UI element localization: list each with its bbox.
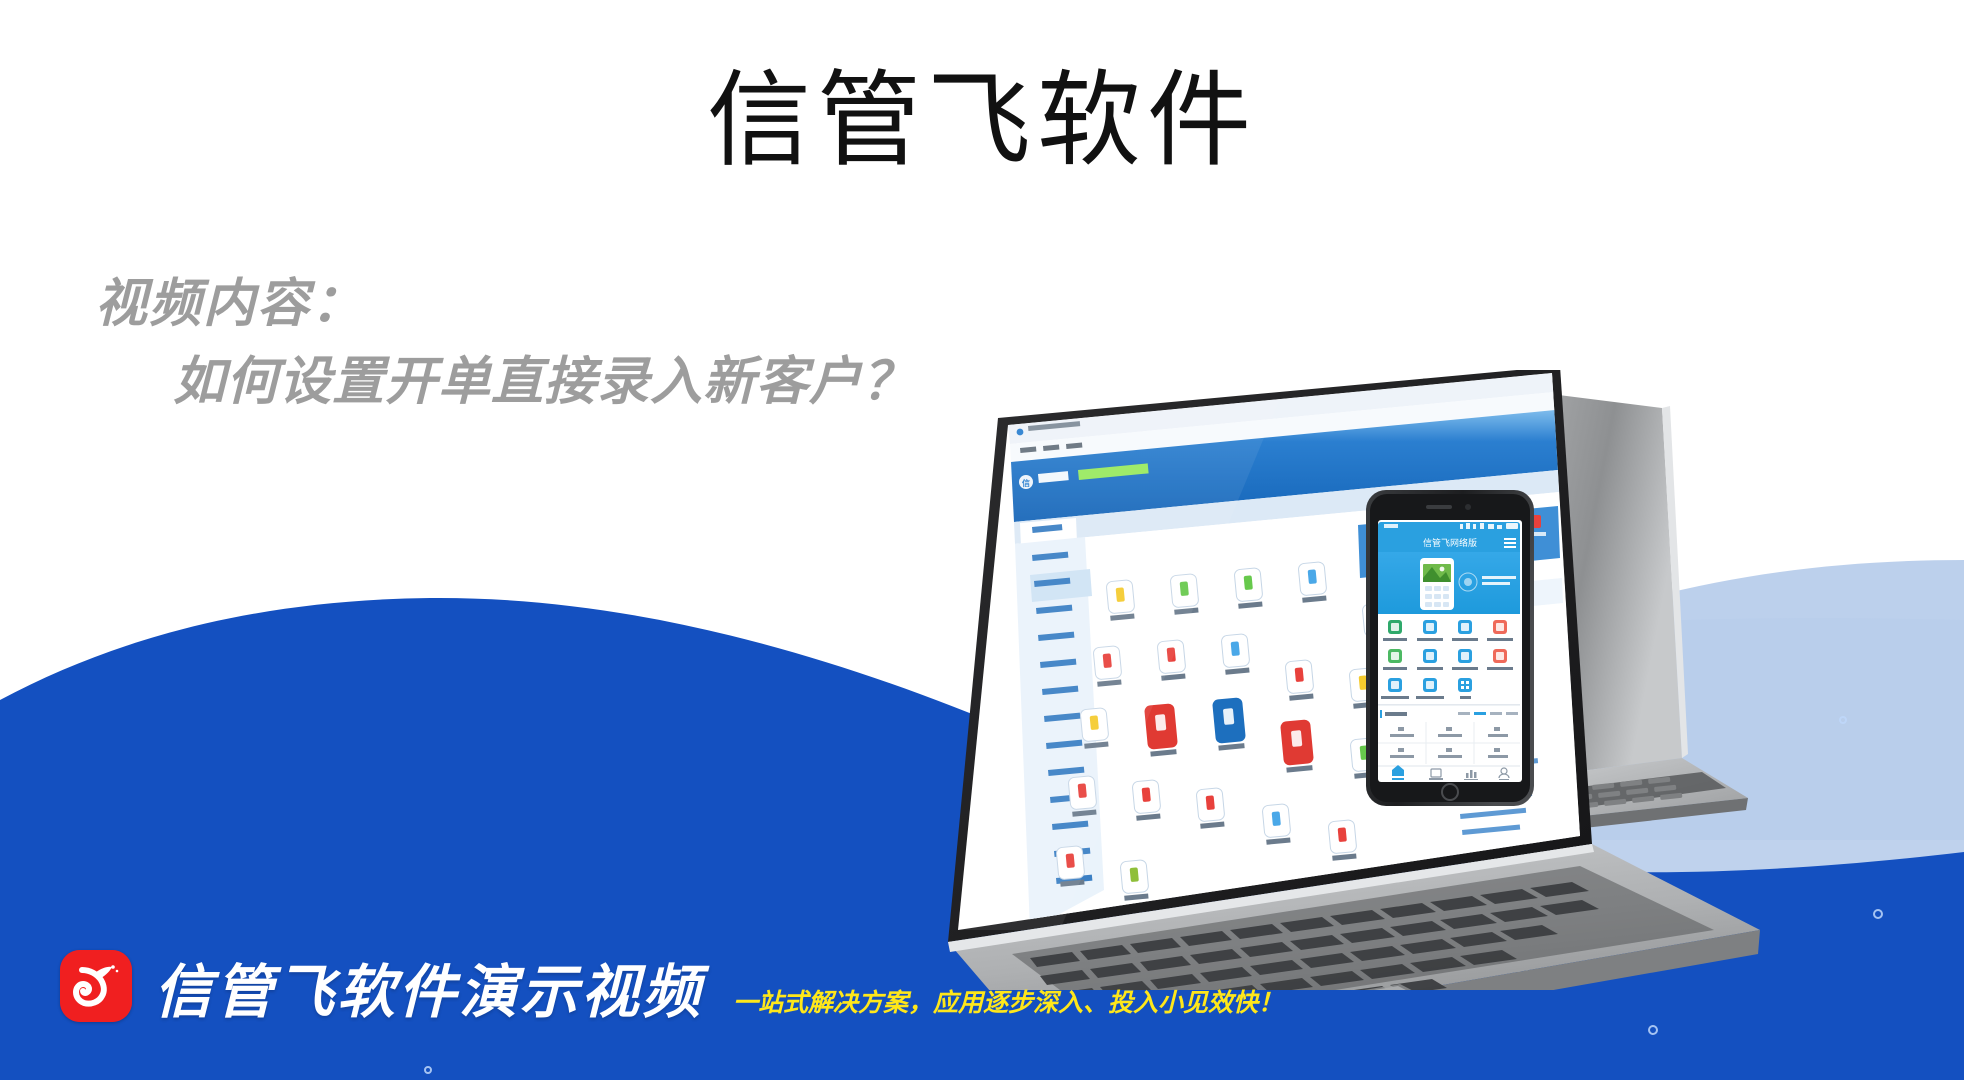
svg-text:信管飞网络版: 信管飞网络版 [1423, 537, 1477, 548]
page-title: 信管飞软件 [0, 58, 1964, 183]
video-content-label: 视频内容： [95, 275, 915, 335]
slide-canvas: 信 [0, 0, 1964, 1080]
footer-brand-text: 信管飞软件演示视频 [154, 964, 703, 1022]
decorative-dot [1648, 1025, 1658, 1035]
footer-bar: 信管飞软件演示视频 一站式解决方案，应用逐步深入、投入小见效快！ [60, 950, 1283, 1022]
smartphone-mobile-app: 信管飞网络版 [1366, 490, 1534, 806]
video-content-block: 视频内容： 如何设置开单直接录入新客户？ [95, 275, 915, 413]
footer-tagline-text: 一站式解决方案，应用逐步深入、投入小见效快！ [733, 991, 1283, 1022]
xingguanfei-bird-logo-icon [60, 950, 132, 1022]
decorative-dot [424, 1066, 432, 1074]
video-content-question: 如何设置开单直接录入新客户？ [173, 353, 915, 413]
devices-illustration: 信 [880, 370, 1964, 990]
